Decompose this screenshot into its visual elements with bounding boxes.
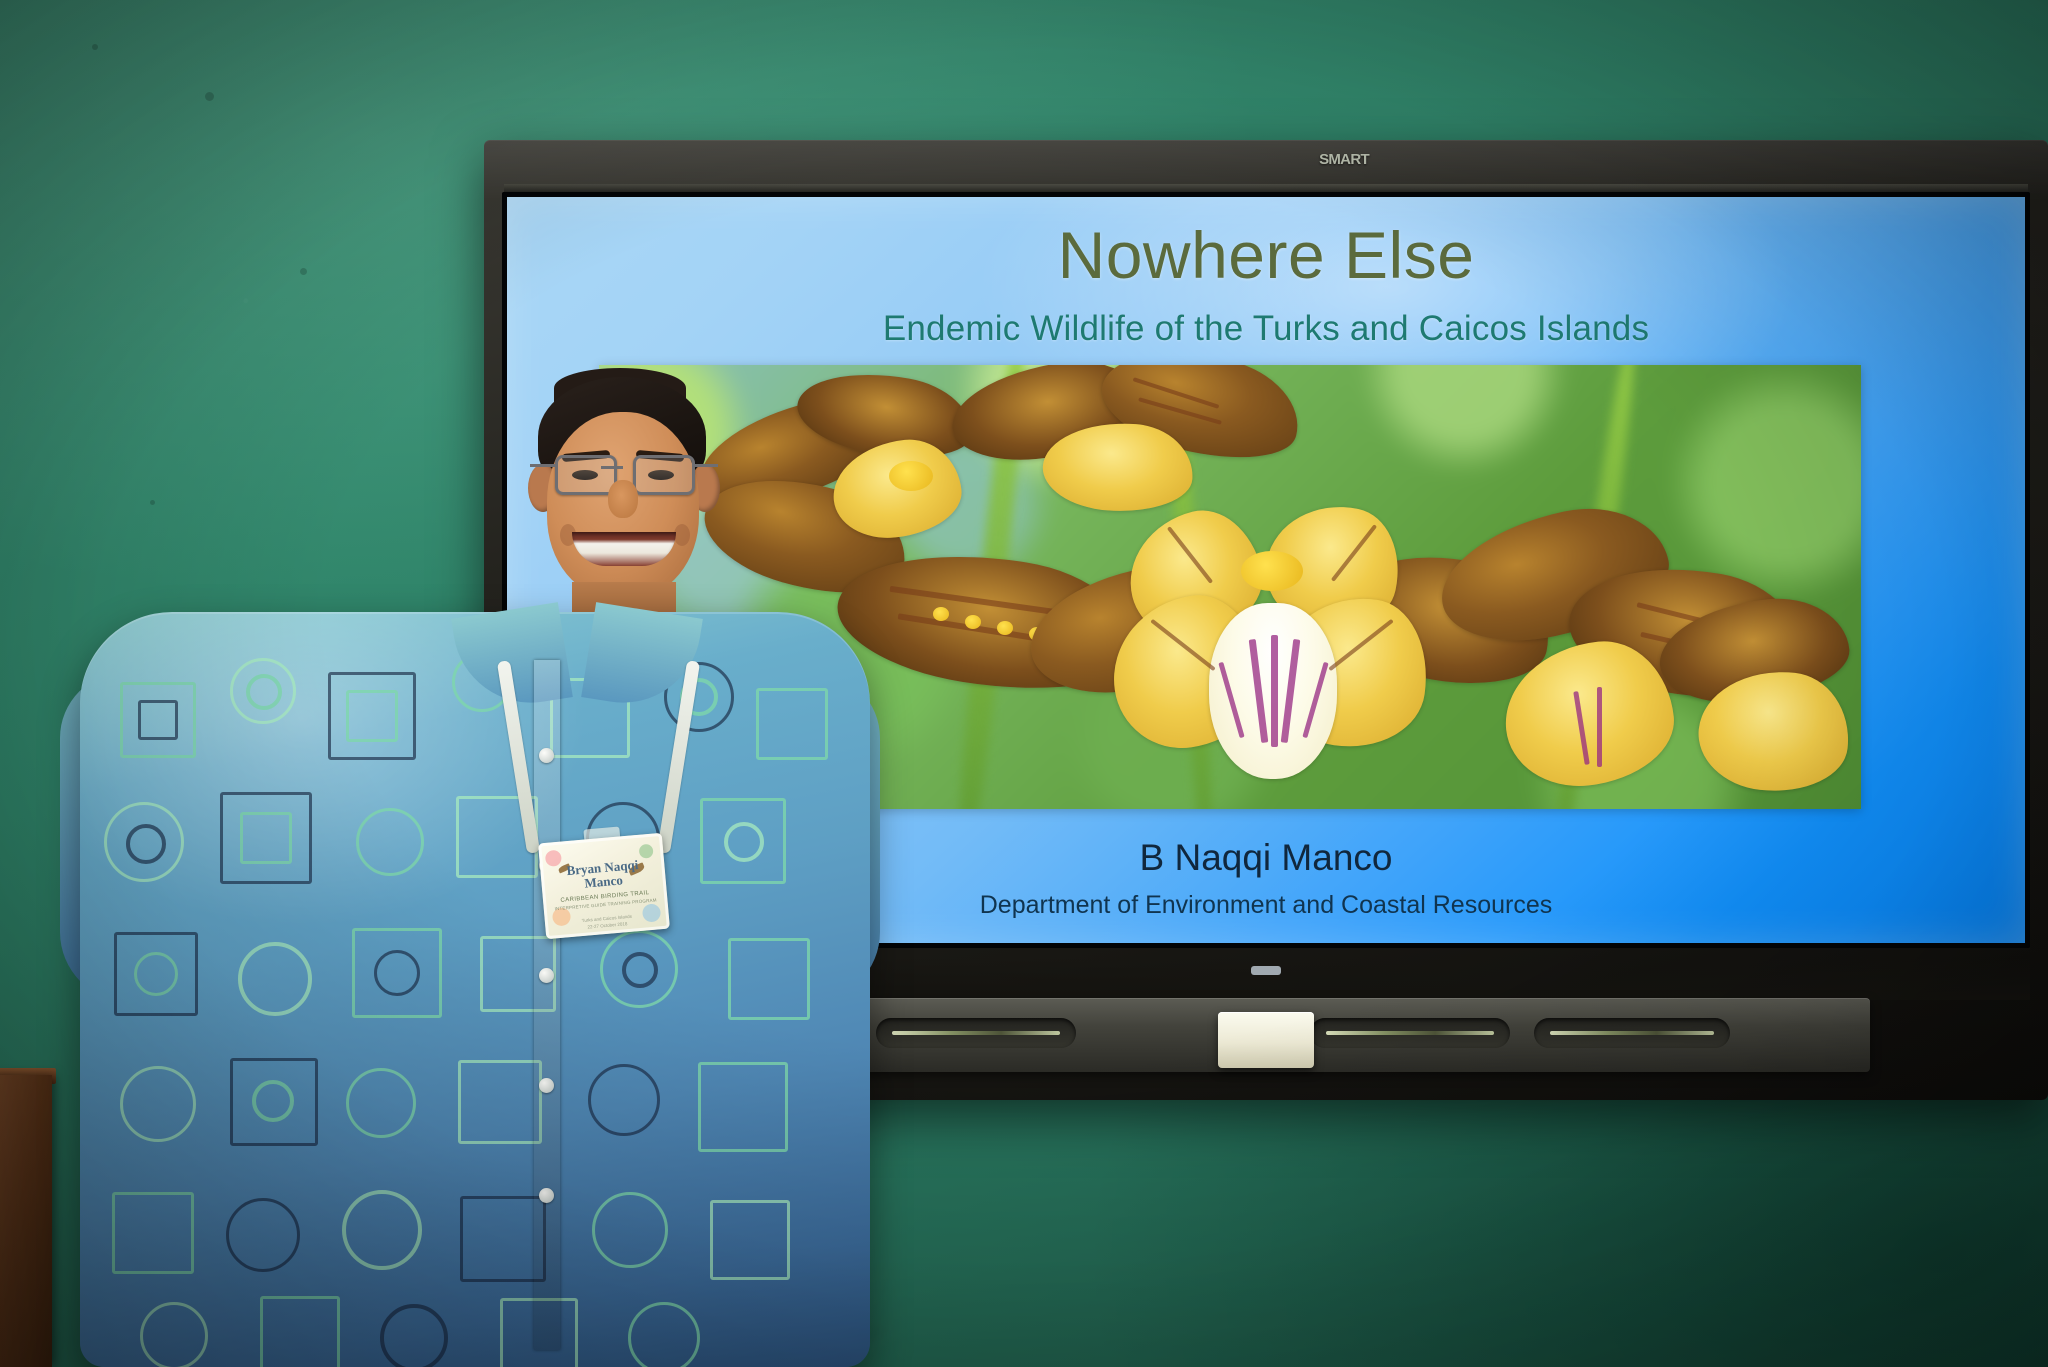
photo-scene: SMART Nowhere Else Endemic Wildlife of t… (0, 0, 2048, 1367)
scene-vignette (0, 0, 2048, 1367)
